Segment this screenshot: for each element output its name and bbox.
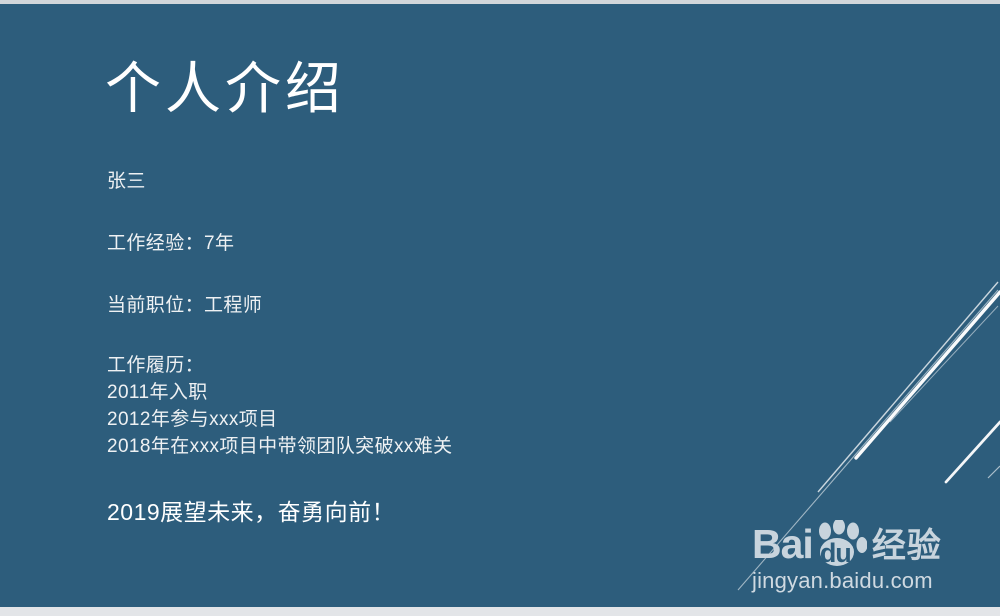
baidu-jingyan-watermark: Bai du 经验 jingyan.baidu.com: [752, 516, 992, 606]
baidu-logo-bai-text: Bai: [752, 524, 813, 564]
closing-statement: 2019展望未来，奋勇向前！: [107, 493, 395, 527]
work-history-item: 2012年参与xxx项目: [107, 406, 747, 433]
current-position-line: 当前职位：工程师: [107, 290, 747, 317]
baidu-logo-jingyan-text: 经验: [872, 528, 942, 564]
slide-bottom-border: [0, 607, 1000, 616]
work-experience-line: 工作经验：7年: [107, 228, 747, 255]
baidu-logo: Bai du 经验: [752, 516, 992, 564]
slide-top-border: [0, 0, 1000, 4]
work-history-heading: 工作履历：: [107, 352, 747, 379]
work-history-group: 工作履历： 2011年入职 2012年参与xxx项目 2018年在xxx项目中带…: [107, 352, 747, 460]
work-history-item: 2011年入职: [107, 379, 747, 406]
presentation-slide: 个人介绍 张三 工作经验：7年 当前职位：工程师 工作履历： 2011年入职 2…: [0, 0, 1000, 616]
watermark-url: jingyan.baidu.com: [752, 568, 992, 594]
person-name: 张三: [107, 166, 747, 193]
paw-print-icon: du: [811, 520, 867, 566]
baidu-logo-du-text: du: [820, 540, 851, 566]
work-history-item: 2018年在xxx项目中带领团队突破xx难关: [107, 433, 747, 460]
slide-body-text: 张三 工作经验：7年 当前职位：工程师 工作履历： 2011年入职 2012年参…: [107, 166, 747, 460]
page-title: 个人介绍: [105, 58, 345, 121]
